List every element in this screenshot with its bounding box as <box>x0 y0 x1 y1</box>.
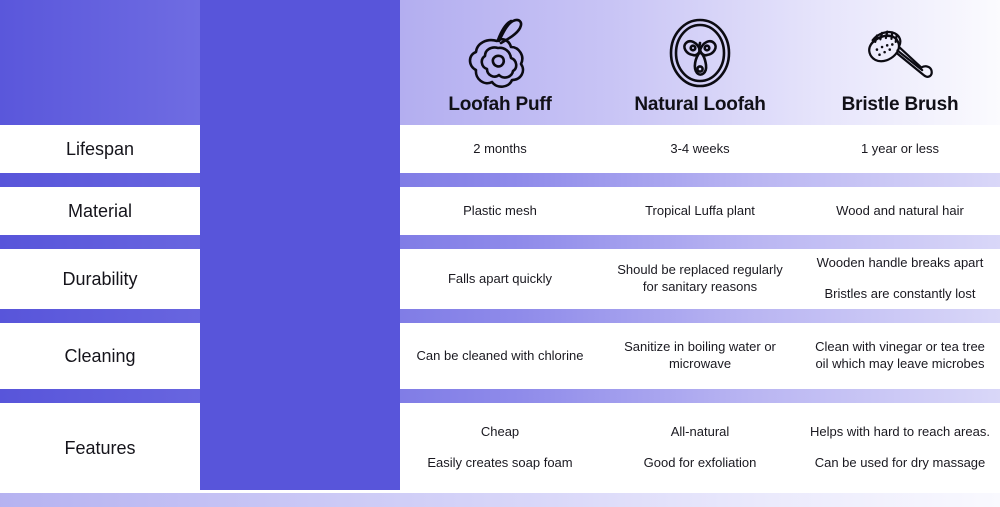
table-row: Features Soap lasts up to 5x longer Dedi… <box>0 403 1000 493</box>
header-corner-blank <box>0 0 200 125</box>
product-cell-line: Bristles are constantly lost <box>824 286 975 303</box>
product-cell-natural-loofah: Should be replaced regularly for sanitar… <box>600 249 800 309</box>
product-cell-line: Tropical Luffa plant <box>645 203 755 220</box>
product-cell-line: Wood and natural hair <box>836 203 964 220</box>
product-name-label: Natural Loofah <box>634 95 765 114</box>
product-cell-line: Good for exfoliation <box>644 455 757 472</box>
product-cell-line: Should be replaced regularly <box>617 262 783 279</box>
product-cell-line: All-natural <box>671 424 730 441</box>
product-cell-loofah-puff: Cheap Easily creates soap foam <box>400 403 600 493</box>
product-cell-natural-loofah: All-natural Good for exfoliation <box>600 403 800 493</box>
row-label: Cleaning <box>0 323 200 389</box>
product-cell-loofah-puff: Plastic mesh <box>400 187 600 235</box>
product-cell-line: Easily creates soap foam <box>427 455 572 472</box>
row-separator <box>0 389 1000 403</box>
table-row: Durability Incredibly durable & lasts fo… <box>0 249 1000 309</box>
product-cell-line: 2 months <box>473 141 526 158</box>
table-row: Lifespan 5-10 years 2 months 3-4 weeks 1… <box>0 125 1000 173</box>
product-header-natural-loofah: Natural Loofah <box>600 0 800 125</box>
product-cell-line: 3-4 weeks <box>670 141 729 158</box>
product-name-label: Loofah Puff <box>448 95 551 114</box>
product-cell-bristle-brush: Helps with hard to reach areas. Can be u… <box>800 403 1000 493</box>
product-cell-loofah-puff: Falls apart quickly <box>400 249 600 309</box>
row-label: Material <box>0 187 200 235</box>
product-cell-line: Wooden handle breaks apart <box>817 255 984 272</box>
product-header-loofah-puff: Loofah Puff <box>400 0 600 125</box>
product-cell-line: Helps with hard to reach areas. <box>810 424 990 441</box>
featured-product-column <box>200 0 400 490</box>
table-header: Loofah Puff <box>0 0 1000 125</box>
product-cell-natural-loofah: 3-4 weeks <box>600 125 800 173</box>
product-cell-line: oil which may leave microbes <box>815 356 984 373</box>
product-cell-bristle-brush: Wood and natural hair <box>800 187 1000 235</box>
product-cell-natural-loofah: Sanitize in boiling water or microwave <box>600 323 800 389</box>
product-cell-line: Plastic mesh <box>463 203 537 220</box>
comparison-table: Loofah Puff <box>0 0 1000 506</box>
product-cell-line: Can be cleaned with chlorine <box>417 348 584 365</box>
table-bottom-separator <box>0 493 1000 507</box>
product-cell-line: Clean with vinegar or tea tree <box>815 339 985 356</box>
product-cell-natural-loofah: Tropical Luffa plant <box>600 187 800 235</box>
natural-loofah-icon <box>659 13 741 93</box>
product-cell-line: Falls apart quickly <box>448 271 552 288</box>
product-cell-bristle-brush: Clean with vinegar or tea tree oil which… <box>800 323 1000 389</box>
row-separator <box>0 235 1000 249</box>
product-cell-line: Sanitize in boiling water or <box>624 339 776 356</box>
product-cell-bristle-brush: Wooden handle breaks apart Bristles are … <box>800 249 1000 309</box>
row-label: Features <box>0 403 200 493</box>
table-row: Cleaning Sanitize in boiling water or le… <box>0 323 1000 389</box>
row-label: Lifespan <box>0 125 200 173</box>
product-cell-line: Cheap <box>481 424 519 441</box>
row-separator <box>0 309 1000 323</box>
product-cell-line: Can be used for dry massage <box>815 455 986 472</box>
product-cell-loofah-puff: Can be cleaned with chlorine <box>400 323 600 389</box>
product-cell-bristle-brush: 1 year or less <box>800 125 1000 173</box>
bristle-brush-icon <box>859 13 941 93</box>
loofah-puff-icon <box>459 13 541 93</box>
product-header-bristle-brush: Bristle Brush <box>800 0 1000 125</box>
table-row: Material Medical-grade silicone Plastic … <box>0 187 1000 235</box>
product-name-label: Bristle Brush <box>842 95 959 114</box>
product-cell-line: microwave <box>669 356 731 373</box>
row-separator <box>0 173 1000 187</box>
product-cell-line: for sanitary reasons <box>643 279 757 296</box>
table-body: Lifespan 5-10 years 2 months 3-4 weeks 1… <box>0 125 1000 507</box>
product-header-columns: Loofah Puff <box>400 0 1000 125</box>
product-cell-line: 1 year or less <box>861 141 939 158</box>
product-cell-loofah-puff: 2 months <box>400 125 600 173</box>
row-label: Durability <box>0 249 200 309</box>
